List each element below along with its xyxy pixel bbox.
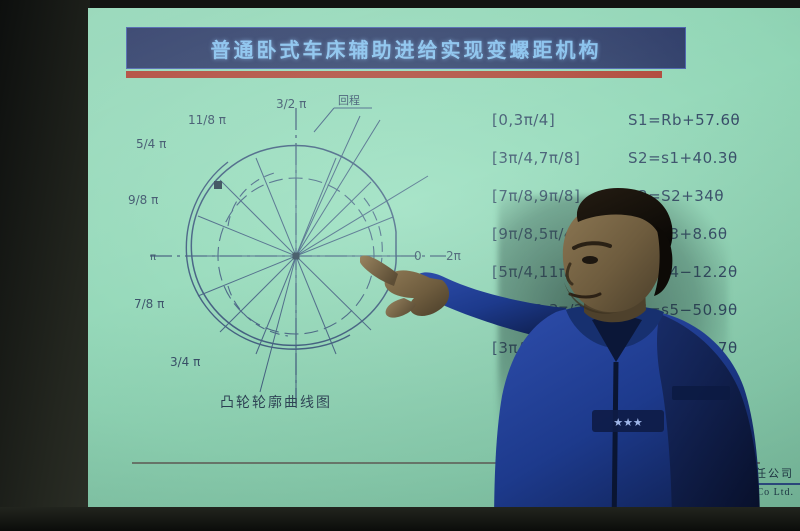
room-bottom-edge: [0, 507, 800, 531]
tick-label-5-4-pi: 5/4 π: [136, 137, 166, 151]
inner-arc-upper: [228, 172, 278, 226]
theoretical-profile-curve: [191, 146, 396, 346]
projected-slide: 普通卧式车床辅助进给实现变螺距机构: [88, 8, 800, 512]
annotation-return-stroke: 回程: [338, 94, 360, 107]
slide-title: 普通卧式车床辅助进给实现变螺距机构: [211, 34, 602, 63]
tick-label-3-4-pi: 3/4 π: [170, 355, 200, 369]
tick-label-11-8-pi: 11/8 π: [188, 113, 226, 127]
footer-company-cn: 限责任公司: [586, 465, 800, 481]
footer-company-en: Tool Co Ltd.: [586, 487, 800, 498]
equation-row: [11π/8,3π/2] S6=s5−50.9θ: [492, 301, 792, 339]
slide-title-panel: 普通卧式车床辅助进给实现变螺距机构: [126, 27, 686, 69]
equation-domain: [7π/8,9π/8]: [492, 187, 628, 205]
equation-formula: S5=s4−12.2θ: [628, 263, 738, 281]
equation-row: [9π/8,5π/4] S4=s3+8.6θ: [492, 225, 792, 263]
tick-label-2pi: 2π: [446, 249, 461, 263]
equation-formula: S1=Rb+57.6θ: [628, 111, 740, 129]
equation-domain: [3π/4,7π/8]: [492, 149, 628, 167]
footer-divider: [586, 483, 800, 485]
tick-label-pi: π: [150, 252, 156, 263]
equation-formula: S7=s6−38.7θ: [628, 339, 738, 357]
equation-row: [7π/8,9π/8] S3=S2+34θ: [492, 187, 792, 225]
equation-domain: [0,3π/4]: [492, 111, 628, 129]
equation-formula: S4=s3+8.6θ: [628, 225, 728, 243]
equation-domain: [5π/4,11π/8]: [492, 263, 628, 281]
equation-row: [3π/4,7π/8] S2=s1+40.3θ: [492, 149, 792, 187]
equation-domain: [11π/8,3π/2]: [492, 301, 628, 319]
slide-footer: 限责任公司 Tool Co Ltd.: [586, 465, 800, 498]
tick-label-3-2-pi: 3/2 π: [276, 97, 306, 111]
tick-label-0: 0: [414, 249, 422, 263]
caption-fragment: 方程: [666, 386, 698, 406]
room-left-wall: [0, 0, 90, 531]
title-underline-bar: [126, 71, 662, 78]
tick-label-7-8-pi: 7/8 π: [134, 297, 164, 311]
equation-domain: [9π/8,5π/4]: [492, 225, 628, 243]
equation-row: [3π/2,2π] S7=s6−38.7θ: [492, 339, 792, 377]
equation-row: [5π/4,11π/8] S5=s4−12.2θ: [492, 263, 792, 301]
equation-list: [0,3π/4] S1=Rb+57.6θ [3π/4,7π/8] S2=s1+4…: [492, 111, 792, 377]
equation-formula: S6=s5−50.9θ: [628, 301, 738, 319]
annotation-leader: [314, 108, 372, 132]
lecture-photo-scene: 普通卧式车床辅助进给实现变螺距机构: [0, 0, 800, 531]
equation-formula: S3=S2+34θ: [628, 187, 724, 205]
center-point: [293, 253, 300, 260]
tick-label-9-8-pi: 9/8 π: [128, 193, 158, 207]
slide-bottom-rule: [132, 462, 760, 464]
chart-caption: 凸轮轮廓曲线图: [220, 392, 332, 412]
equation-formula: S2=s1+40.3θ: [628, 149, 738, 167]
cam-profile-diagram: 回程 0 2π π 3/2 π 11/8 π 5/4 π 9/8 π 7/8 π…: [128, 86, 488, 406]
profile-marker-point: [214, 181, 222, 189]
equation-domain: [3π/2,2π]: [492, 339, 628, 357]
room-top-edge: [0, 0, 800, 8]
equation-row: [0,3π/4] S1=Rb+57.6θ: [492, 111, 792, 149]
